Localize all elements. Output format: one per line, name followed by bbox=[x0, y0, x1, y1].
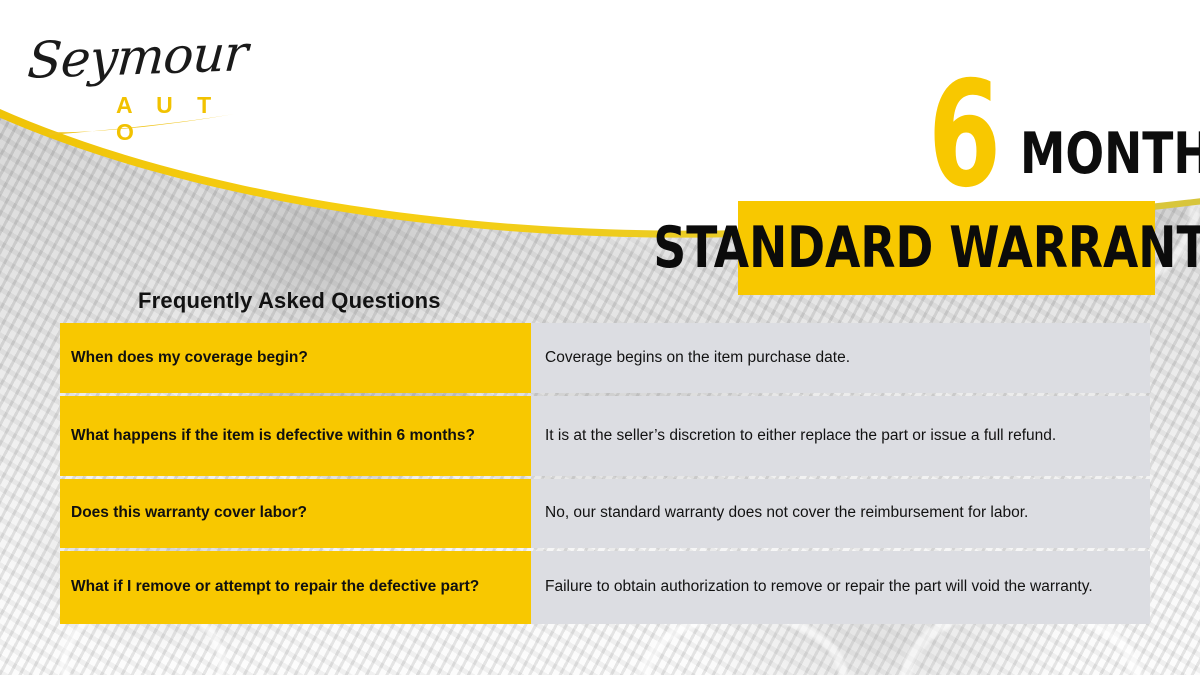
faq-answer-cell: Failure to obtain authorization to remov… bbox=[531, 551, 1150, 624]
faq-section-title: Frequently Asked Questions bbox=[138, 288, 441, 314]
logo-swoosh-icon bbox=[46, 112, 238, 136]
table-row: When does my coverage begin? Coverage be… bbox=[60, 323, 1150, 393]
duration-headline: 6 MONTH bbox=[920, 78, 1170, 198]
faq-table: When does my coverage begin? Coverage be… bbox=[60, 323, 1150, 627]
faq-answer-cell: Coverage begins on the item purchase dat… bbox=[531, 323, 1150, 393]
faq-question-cell: What if I remove or attempt to repair th… bbox=[60, 551, 527, 624]
duration-unit: MONTH bbox=[1020, 126, 1200, 183]
faq-answer-cell: It is at the seller’s discretion to eith… bbox=[531, 396, 1150, 476]
faq-question-cell: What happens if the item is defective wi… bbox=[60, 396, 527, 476]
standard-warranty-banner: STANDARD WARRANTY bbox=[738, 201, 1155, 295]
logo-script-text: Seymour bbox=[26, 24, 249, 90]
faq-question-cell: Does this warranty cover labor? bbox=[60, 479, 527, 548]
duration-number: 6 bbox=[928, 62, 998, 208]
table-row: What if I remove or attempt to repair th… bbox=[60, 551, 1150, 624]
table-row: What happens if the item is defective wi… bbox=[60, 396, 1150, 476]
seymour-auto-logo[interactable]: Seymour A U T O bbox=[22, 20, 242, 132]
standard-warranty-label: STANDARD WARRANTY bbox=[653, 220, 1200, 277]
table-row: Does this warranty cover labor? No, our … bbox=[60, 479, 1150, 548]
faq-question-cell: When does my coverage begin? bbox=[60, 323, 527, 393]
faq-answer-cell: No, our standard warranty does not cover… bbox=[531, 479, 1150, 548]
warranty-slide: Seymour A U T O 6 MONTH STANDARD WARRANT… bbox=[0, 0, 1200, 675]
